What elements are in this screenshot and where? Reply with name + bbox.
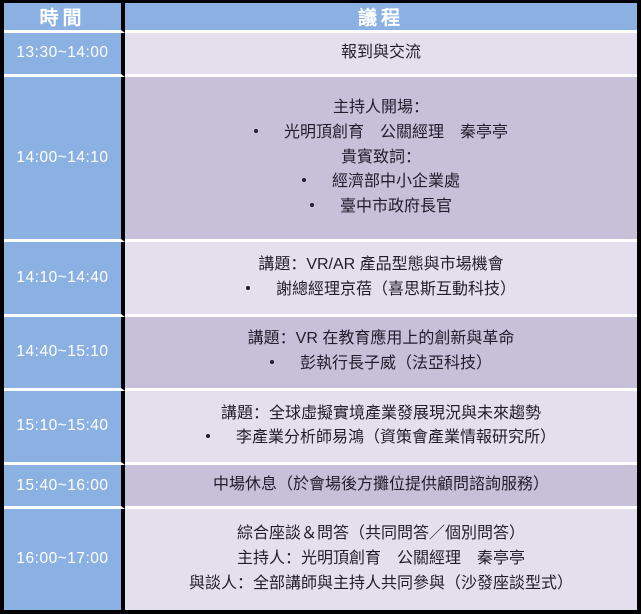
agenda-line-text: 臺中市政府長官 — [340, 198, 452, 215]
header-row: 時間 議程 — [4, 3, 637, 33]
agenda-line-text: 中場休息（於會場後方攤位提供顧問諮詢服務） — [213, 476, 549, 493]
agenda-table: 時間 議程 13:30~14:00報到與交流14:00~14:10主持人開場：光… — [4, 3, 637, 610]
time-cell: 15:10~15:40 — [4, 391, 125, 465]
agenda-cell: 中場休息（於會場後方攤位提供顧問諮詢服務） — [125, 465, 637, 509]
agenda-line: 貴賓致詞： — [135, 146, 627, 171]
agenda-line: 講題：VR/AR 產品型態與市場機會 — [135, 253, 627, 278]
agenda-line-text: 貴賓致詞： — [341, 149, 421, 166]
agenda-bullet-line: 謝總經理京蓓（喜思斯互動科技） — [135, 278, 627, 303]
table-row: 15:10~15:40講題：全球虛擬實境產業發展現況與未來趨勢李產業分析師易鴻（… — [4, 391, 637, 465]
table-row: 14:10~14:40講題：VR/AR 產品型態與市場機會謝總經理京蓓（喜思斯互… — [4, 242, 637, 316]
agenda-bullet-line: 光明頂創育 公關經理 秦亭亭 — [135, 121, 627, 146]
agenda-line: 講題：全球虛擬實境產業發展現況與未來趨勢 — [135, 402, 627, 427]
agenda-line-text: 講題：全球虛擬實境產業發展現況與未來趨勢 — [221, 405, 541, 422]
table-body: 13:30~14:00報到與交流14:00~14:10主持人開場：光明頂創育 公… — [4, 33, 637, 610]
agenda-line-text: 報到與交流 — [341, 44, 421, 61]
time-cell: 13:30~14:00 — [4, 33, 125, 77]
agenda-line-text: 綜合座談＆問答（共同問答／個別問答） — [237, 525, 525, 542]
agenda-cell: 報到與交流 — [125, 33, 637, 77]
agenda-line-text: 經濟部中小企業處 — [332, 173, 460, 190]
agenda-frame: 時間 議程 13:30~14:00報到與交流14:00~14:10主持人開場：光… — [0, 0, 641, 614]
agenda-line: 中場休息（於會場後方攤位提供顧問諮詢服務） — [135, 473, 627, 498]
time-cell: 14:10~14:40 — [4, 242, 125, 316]
bullet-icon — [206, 434, 210, 438]
time-cell: 14:40~15:10 — [4, 317, 125, 391]
agenda-line-text: 與談人：全部講師與主持人共同參與（沙發座談型式） — [189, 575, 573, 592]
header-cell-time: 時間 — [4, 3, 125, 33]
agenda-line: 報到與交流 — [135, 41, 627, 66]
agenda-line: 講題：VR 在教育應用上的創新與革命 — [135, 327, 627, 352]
agenda-line-text: 謝總經理京蓓（喜思斯互動科技） — [276, 281, 516, 298]
agenda-line-text: 彭執行長子威（法亞科技） — [300, 355, 492, 372]
agenda-bullet-line: 李產業分析師易鴻（資策會產業情報研究所） — [135, 426, 627, 451]
bullet-icon — [302, 178, 306, 182]
time-cell: 15:40~16:00 — [4, 465, 125, 509]
table-header: 時間 議程 — [4, 3, 637, 33]
header-cell-agenda: 議程 — [125, 3, 637, 33]
agenda-line-text: 講題：VR/AR 產品型態與市場機會 — [258, 256, 503, 273]
table-row: 14:00~14:10主持人開場：光明頂創育 公關經理 秦亭亭貴賓致詞：經濟部中… — [4, 77, 637, 242]
bullet-icon — [310, 203, 314, 207]
table-row: 15:40~16:00中場休息（於會場後方攤位提供顧問諮詢服務） — [4, 465, 637, 509]
agenda-cell: 講題：全球虛擬實境產業發展現況與未來趨勢李產業分析師易鴻（資策會產業情報研究所） — [125, 391, 637, 465]
agenda-line-text: 主持人開場： — [333, 99, 429, 116]
time-cell: 16:00~17:00 — [4, 509, 125, 610]
agenda-bullet-line: 經濟部中小企業處 — [135, 170, 627, 195]
agenda-bullet-line: 彭執行長子威（法亞科技） — [135, 352, 627, 377]
bullet-icon — [270, 360, 274, 364]
bullet-icon — [254, 129, 258, 133]
agenda-line: 與談人：全部講師與主持人共同參與（沙發座談型式） — [135, 572, 627, 597]
agenda-line-text: 主持人：光明頂創育 公關經理 秦亭亭 — [237, 550, 525, 567]
time-cell: 14:00~14:10 — [4, 77, 125, 242]
agenda-cell: 講題：VR/AR 產品型態與市場機會謝總經理京蓓（喜思斯互動科技） — [125, 242, 637, 316]
agenda-line-text: 光明頂創育 公關經理 秦亭亭 — [284, 124, 508, 141]
agenda-bullet-line: 臺中市政府長官 — [135, 195, 627, 220]
agenda-line-text: 講題：VR 在教育應用上的創新與革命 — [248, 330, 515, 347]
agenda-line: 主持人：光明頂創育 公關經理 秦亭亭 — [135, 547, 627, 572]
agenda-line-text: 李產業分析師易鴻（資策會產業情報研究所） — [236, 429, 556, 446]
agenda-cell: 綜合座談＆問答（共同問答／個別問答）主持人：光明頂創育 公關經理 秦亭亭與談人：… — [125, 509, 637, 610]
table-row: 16:00~17:00綜合座談＆問答（共同問答／個別問答）主持人：光明頂創育 公… — [4, 509, 637, 610]
agenda-cell: 主持人開場：光明頂創育 公關經理 秦亭亭貴賓致詞：經濟部中小企業處臺中市政府長官 — [125, 77, 637, 242]
agenda-cell: 講題：VR 在教育應用上的創新與革命彭執行長子威（法亞科技） — [125, 317, 637, 391]
bullet-icon — [246, 286, 250, 290]
agenda-line: 綜合座談＆問答（共同問答／個別問答） — [135, 522, 627, 547]
table-row: 14:40~15:10講題：VR 在教育應用上的創新與革命彭執行長子威（法亞科技… — [4, 317, 637, 391]
agenda-line: 主持人開場： — [135, 96, 627, 121]
table-row: 13:30~14:00報到與交流 — [4, 33, 637, 77]
